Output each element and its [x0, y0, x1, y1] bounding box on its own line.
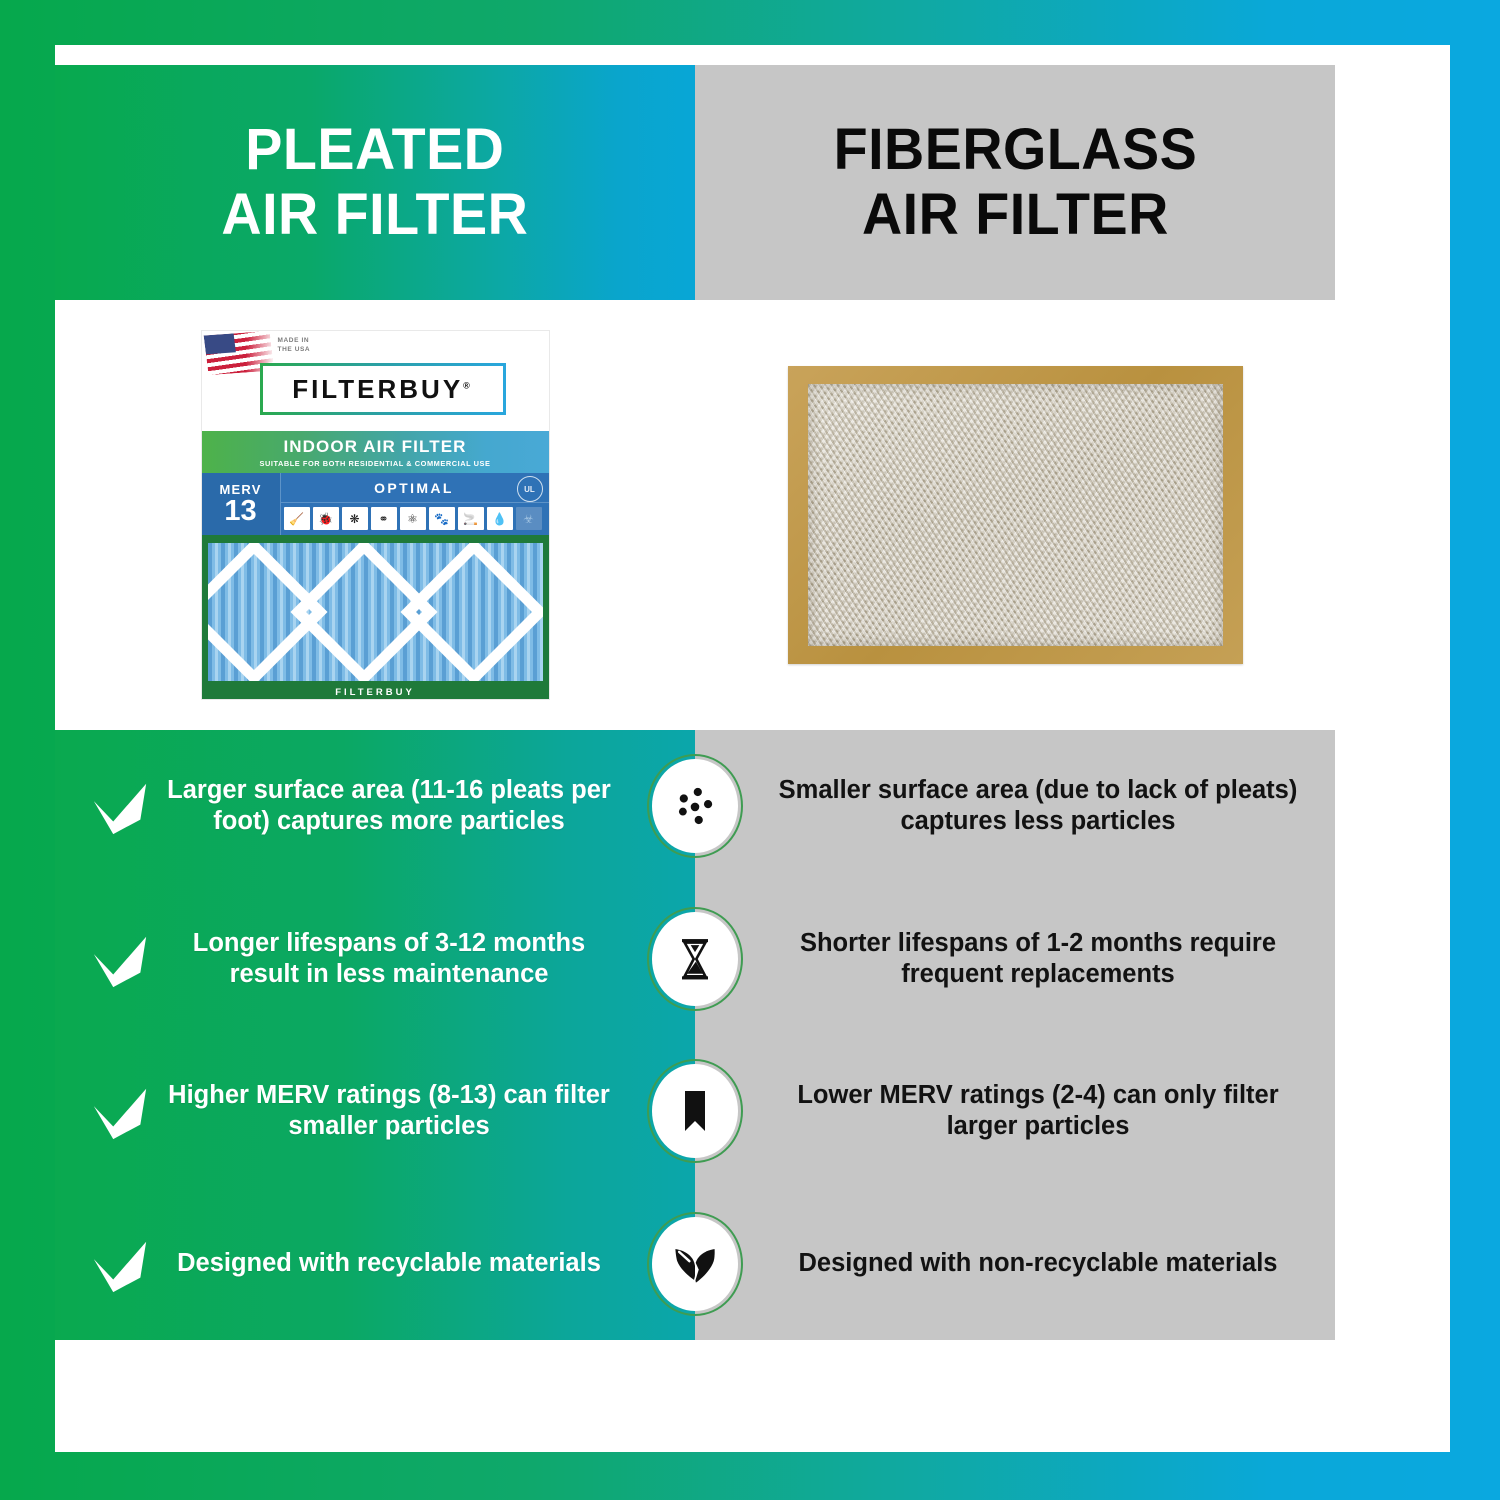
- blue-pleats: [208, 543, 543, 681]
- row-left-side: Higher MERV ratings (8-13) can filter sm…: [55, 1080, 695, 1142]
- row-left-text: Designed with recyclable materials: [161, 1248, 617, 1279]
- merv-value: 13: [224, 497, 256, 526]
- fiberglass-product-cell: [695, 300, 1335, 730]
- row-left-text: Higher MERV ratings (8-13) can filter sm…: [161, 1080, 617, 1142]
- fiberglass-header-panel: FIBERGLASS AIR FILTER: [695, 65, 1335, 300]
- leaf-glyph: [667, 1236, 723, 1292]
- grade-label: OPTIMAL: [374, 480, 454, 496]
- icon-disc: [652, 1217, 738, 1311]
- bookmark-glyph: [670, 1086, 720, 1136]
- row-right-text: Designed with non-recyclable materials: [767, 1248, 1309, 1279]
- pleated-media-area: FILTERBUY: [202, 535, 549, 699]
- row-right-side: Smaller surface area (due to lack of ple…: [695, 775, 1335, 837]
- row-right-side: Shorter lifespans of 1-2 months require …: [695, 928, 1335, 990]
- icon-disc: [652, 759, 738, 853]
- particles-icon: [647, 754, 743, 858]
- hourglass-glyph: [669, 933, 721, 985]
- pleated-label-top: MADE IN THE USA FILTERBUY®: [202, 331, 549, 431]
- row-right-text: Shorter lifespans of 1-2 months require …: [767, 928, 1309, 990]
- indoor-air-filter-banner: INDOOR AIR FILTER SUITABLE FOR BOTH RESI…: [202, 431, 549, 473]
- comparison-rows: Larger surface area (11-16 pleats per fo…: [55, 730, 1335, 1340]
- row-left-text: Larger surface area (11-16 pleats per fo…: [161, 775, 617, 837]
- product-image-row: MADE IN THE USA FILTERBUY® INDOOR AIR FI…: [55, 300, 1335, 730]
- particles-glyph: [667, 778, 723, 834]
- row-left-side: Designed with recyclable materials: [55, 1233, 695, 1295]
- row-right-side: Lower MERV ratings (2-4) can only filter…: [695, 1080, 1335, 1142]
- made-in-usa-text: MADE IN THE USA: [278, 337, 311, 355]
- fiberglass-filter-product-image: [788, 366, 1243, 664]
- diamond-shape: [400, 543, 543, 681]
- broom-icon: 🧹: [284, 507, 310, 530]
- fiberglass-header-title: FIBERGLASS AIR FILTER: [833, 118, 1197, 248]
- pleated-header-title: PLEATED AIR FILTER: [222, 118, 529, 248]
- icon-disc: [652, 1064, 738, 1158]
- checkmark-icon: [89, 775, 151, 837]
- pleated-filter-product-image: MADE IN THE USA FILTERBUY® INDOOR AIR FI…: [202, 331, 549, 699]
- checkmark-icon: [89, 1080, 151, 1142]
- pollen-icon: ❋: [342, 507, 368, 530]
- pleated-header-panel: PLEATED AIR FILTER: [55, 65, 695, 300]
- comparison-section: Larger surface area (11-16 pleats per fo…: [55, 730, 1335, 1340]
- comparison-row: Larger surface area (11-16 pleats per fo…: [55, 730, 1335, 883]
- icon-disc: [652, 912, 738, 1006]
- bacteria-icon: 💧: [487, 507, 513, 530]
- lint-icon: ⚛: [400, 507, 426, 530]
- smoke-icon: 🚬: [458, 507, 484, 530]
- white-diamond-frame: [208, 543, 543, 681]
- filterbuy-wordmark: FILTERBUY®: [292, 374, 473, 405]
- banner-line-1: INDOOR AIR FILTER: [283, 437, 466, 457]
- merv-rating-box: MERV 13: [202, 473, 281, 535]
- dust-mite-icon: 🐞: [313, 507, 339, 530]
- ul-certification-icon: UL: [517, 476, 543, 502]
- virus-icon-disabled: ☣: [516, 507, 542, 530]
- checkmark-icon: [89, 1233, 151, 1295]
- row-left-side: Longer lifespans of 3-12 months result i…: [55, 928, 695, 990]
- comparison-row: Longer lifespans of 3-12 months result i…: [55, 883, 1335, 1036]
- row-left-text: Longer lifespans of 3-12 months result i…: [161, 928, 617, 990]
- row-right-side: Designed with non-recyclable materials: [695, 1248, 1335, 1279]
- filterbuy-logo-box: FILTERBUY®: [260, 363, 506, 415]
- grade-row: OPTIMAL: [280, 473, 549, 503]
- pleated-footer-brand: FILTERBUY: [202, 687, 549, 698]
- comparison-row: Designed with recyclable materials Desig…: [55, 1188, 1335, 1341]
- checkmark-icon: [89, 928, 151, 990]
- merv-info-band: MERV 13 OPTIMAL UL 🧹 🐞 ❋ ⚭ ⚛ 🐾 🚬 💧 ☣: [202, 473, 549, 535]
- row-right-text: Lower MERV ratings (2-4) can only filter…: [767, 1080, 1309, 1142]
- mold-icon: ⚭: [371, 507, 397, 530]
- leaf-icon: [647, 1212, 743, 1316]
- header-band: PLEATED AIR FILTER FIBERGLASS AIR FILTER: [55, 65, 1335, 300]
- row-right-text: Smaller surface area (due to lack of ple…: [767, 775, 1309, 837]
- pet-dander-icon: 🐾: [429, 507, 455, 530]
- comparison-row: Higher MERV ratings (8-13) can filter sm…: [55, 1035, 1335, 1188]
- filtration-icon-strip: 🧹 🐞 ❋ ⚭ ⚛ 🐾 🚬 💧 ☣: [284, 504, 545, 533]
- bookmark-icon: [647, 1059, 743, 1163]
- row-left-side: Larger surface area (11-16 pleats per fo…: [55, 775, 695, 837]
- banner-line-2: SUITABLE FOR BOTH RESIDENTIAL & COMMERCI…: [259, 459, 490, 468]
- hourglass-icon: [647, 907, 743, 1011]
- fiberglass-mesh: [808, 384, 1223, 646]
- pleated-product-cell: MADE IN THE USA FILTERBUY® INDOOR AIR FI…: [55, 300, 695, 730]
